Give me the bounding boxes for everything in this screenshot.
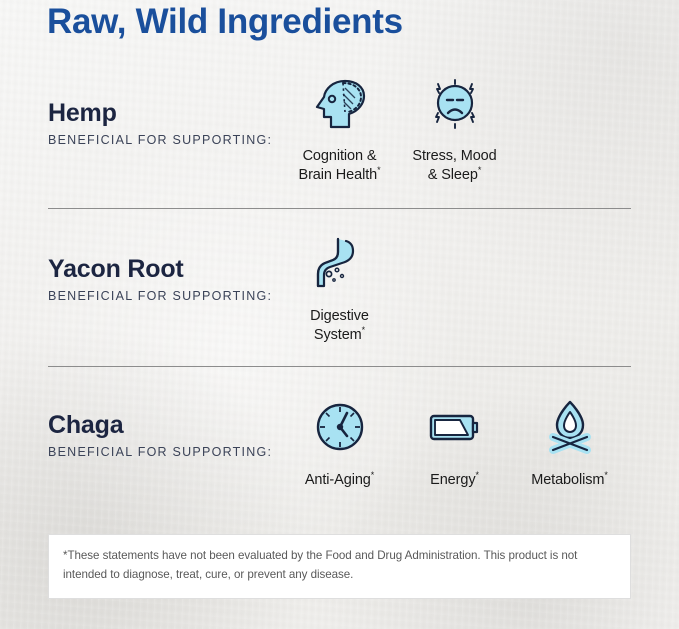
asterisk-marker: * xyxy=(371,470,374,480)
ingredient-subtitle-chaga: BENEFICIAL FOR SUPPORTING: xyxy=(48,445,272,459)
ingredient-name-chaga: Chaga xyxy=(48,412,272,440)
benefit-label-stress: Stress, Mood & Sleep* xyxy=(412,147,496,184)
ingredient-name-block-chaga: Chaga BENEFICIAL FOR SUPPORTING: xyxy=(48,412,272,459)
section-divider xyxy=(48,366,631,367)
benefit-label-metabolism: Metabolism* xyxy=(531,471,608,490)
asterisk-marker: * xyxy=(475,470,478,480)
benefit-label-line2: System xyxy=(314,327,362,343)
battery-icon xyxy=(424,394,486,460)
benefit-label-line1: Energy xyxy=(430,472,475,488)
benefit-label-line1: Stress, Mood xyxy=(412,148,496,164)
benefit-label-anti-aging: Anti-Aging* xyxy=(305,471,374,490)
asterisk-marker: * xyxy=(362,325,365,335)
benefit-label-line1: Digestive xyxy=(310,308,369,324)
ingredient-subtitle-yacon-root: BENEFICIAL FOR SUPPORTING: xyxy=(48,289,272,303)
benefit-metabolism: Metabolism* xyxy=(512,394,627,490)
benefit-label-line2: Brain Health xyxy=(299,167,378,183)
benefit-energy: Energy* xyxy=(397,394,512,490)
head-brain-icon xyxy=(309,70,371,136)
benefit-digestive: Digestive System* xyxy=(282,230,397,344)
benefit-cognition: Cognition & Brain Health* xyxy=(282,70,397,184)
asterisk-marker: * xyxy=(377,165,380,175)
benefit-stress: Stress, Mood & Sleep* xyxy=(397,70,512,184)
benefit-label-energy: Energy* xyxy=(430,471,479,490)
ingredient-name-yacon-root: Yacon Root xyxy=(48,256,272,284)
ingredient-name-block-hemp: Hemp BENEFICIAL FOR SUPPORTING: xyxy=(48,100,272,147)
benefit-label-line1: Metabolism xyxy=(531,472,604,488)
asterisk-marker: * xyxy=(604,470,607,480)
benefit-label-line2: & Sleep xyxy=(428,167,478,183)
disclaimer-box: *These statements have not been evaluate… xyxy=(48,534,631,599)
benefit-label-cognition: Cognition & Brain Health* xyxy=(299,147,381,184)
clock-icon xyxy=(309,394,371,460)
stressed-face-icon xyxy=(424,70,486,136)
benefit-label-digestive: Digestive System* xyxy=(310,307,369,344)
asterisk-marker: * xyxy=(478,165,481,175)
ingredient-name-block-yacon-root: Yacon Root BENEFICIAL FOR SUPPORTING: xyxy=(48,256,272,303)
stomach-icon xyxy=(309,230,371,296)
benefit-icons-chaga: Anti-Aging* Energy* xyxy=(282,394,627,490)
benefit-icons-yacon-root: Digestive System* xyxy=(282,230,397,344)
campfire-icon xyxy=(539,394,601,460)
benefit-label-line1: Anti-Aging xyxy=(305,472,371,488)
page-title: Raw, Wild Ingredients xyxy=(47,2,403,42)
benefit-anti-aging: Anti-Aging* xyxy=(282,394,397,490)
ingredient-name-hemp: Hemp xyxy=(48,100,272,128)
benefit-label-line1: Cognition & xyxy=(303,148,377,164)
benefit-icons-hemp: Cognition & Brain Health* xyxy=(282,70,512,184)
ingredient-subtitle-hemp: BENEFICIAL FOR SUPPORTING: xyxy=(48,133,272,147)
section-divider xyxy=(48,208,631,209)
disclaimer-text: *These statements have not been evaluate… xyxy=(63,547,616,585)
